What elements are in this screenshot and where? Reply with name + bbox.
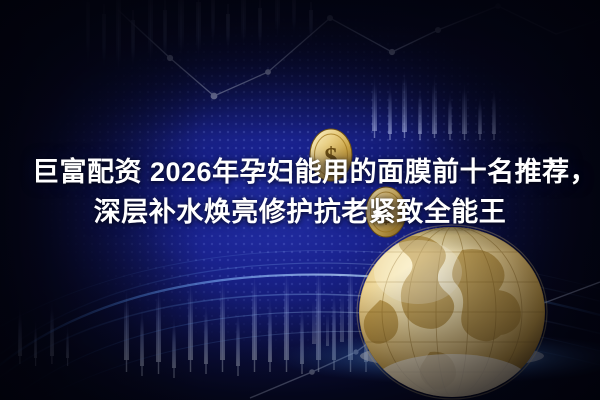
arc-group	[0, 251, 600, 400]
promo-banner: $ $	[0, 0, 600, 400]
continents	[364, 236, 521, 390]
headline-line-2: 深层补水焕亮修护抗老紧致全能王	[22, 192, 578, 232]
headline-block: 巨富配资 2026年孕妇能用的面膜前十名推荐， 深层补水焕亮修护抗老紧致全能王	[0, 152, 600, 232]
headline-line-1: 巨富配资 2026年孕妇能用的面膜前十名推荐，	[22, 152, 578, 192]
globe-grid	[359, 227, 545, 397]
globe-base-glow	[272, 332, 600, 384]
trend-line-chart	[118, 3, 600, 99]
lower-trend-line	[250, 282, 600, 398]
